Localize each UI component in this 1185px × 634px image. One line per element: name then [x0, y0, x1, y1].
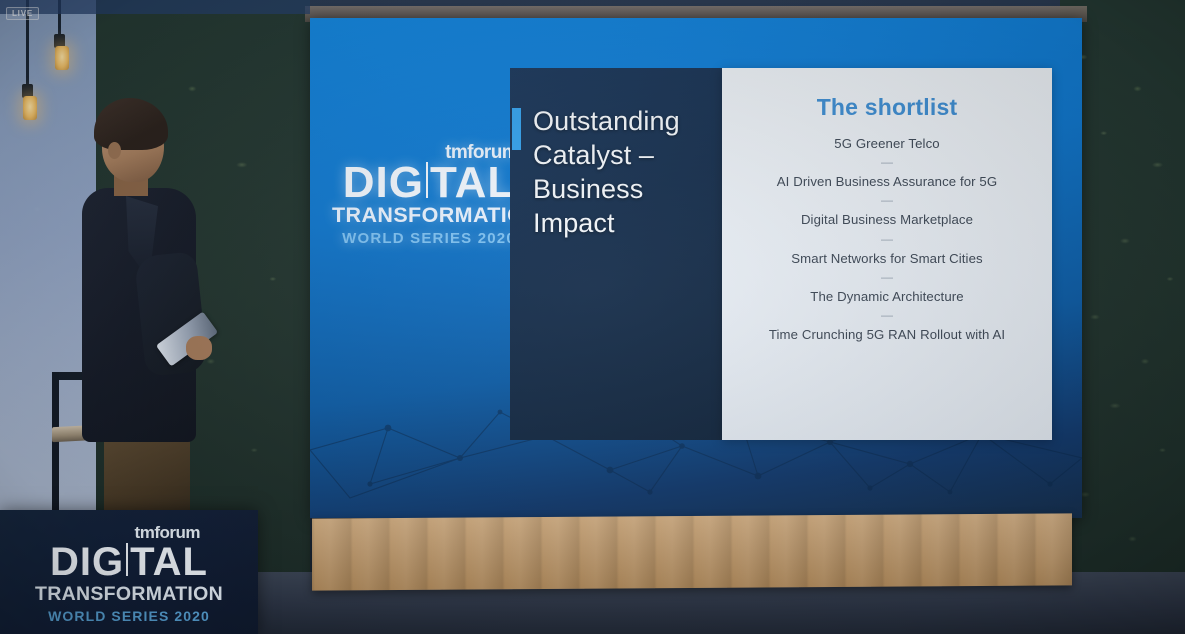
shortlist-item: Time Crunching 5G RAN Rollout with AI [722, 324, 1052, 345]
shortlist-heading: The shortlist [722, 94, 1052, 121]
shortlist-item: Smart Networks for Smart Cities [722, 248, 1052, 269]
shortlist-item: AI Driven Business Assurance for 5G [722, 171, 1052, 192]
presenter-hand [186, 336, 212, 360]
presenter [74, 104, 244, 524]
backdrop-event-logo: tmforum DIGTAL TRANSFORMATION WORLD SERI… [332, 143, 526, 250]
overlay-logo-digital: DIGTAL [10, 542, 248, 582]
shortlist-separator: — [722, 269, 1052, 286]
shortlist-separator: — [722, 231, 1052, 248]
shortlist-separator: — [722, 307, 1052, 324]
pendant-lamp-bulb-1 [23, 96, 37, 120]
backdrop-logo-world-series: WORLD SERIES 2020 [332, 228, 526, 251]
shortlist-item: The Dynamic Architecture [722, 286, 1052, 307]
lower-third-logo-overlay: tmforum DIGTAL TRANSFORMATION WORLD SERI… [0, 510, 258, 634]
live-badge: LIVE [6, 7, 39, 20]
shortlist-items: 5G Greener Telco — AI Driven Business As… [722, 133, 1052, 345]
backdrop-logo-digital: DIGTAL [332, 162, 526, 204]
broadcast-frame: tmforum DIGTAL TRANSFORMATION WORLD SERI… [0, 0, 1185, 634]
pendant-lamp-bulb-2 [55, 46, 69, 70]
logo-divider-bar [126, 543, 128, 576]
overlay-brand-name: tmforum [10, 524, 248, 541]
logo-divider-bar [426, 162, 428, 198]
slide-accent-bar [512, 108, 521, 150]
backdrop-logo-transformation: TRANSFORMATION [332, 204, 526, 228]
presenter-hair [94, 98, 168, 150]
overlay-logo-world-series: WORLD SERIES 2020 [10, 606, 248, 627]
overlay-logo-transformation: TRANSFORMATION [10, 582, 248, 606]
shortlist-item: 5G Greener Telco [722, 133, 1052, 154]
slide-shortlist-panel: The shortlist 5G Greener Telco — AI Driv… [722, 68, 1052, 440]
broadcast-top-strip [0, 0, 310, 14]
stool-frame [52, 372, 59, 514]
presenter-ear [108, 142, 121, 159]
shortlist-separator: — [722, 192, 1052, 209]
shortlist-separator: — [722, 154, 1052, 171]
shortlist-item: Digital Business Marketplace [722, 209, 1052, 230]
stage-front-panel [312, 513, 1072, 590]
slide-title: Outstanding Catalyst – Business Impact [533, 104, 713, 240]
